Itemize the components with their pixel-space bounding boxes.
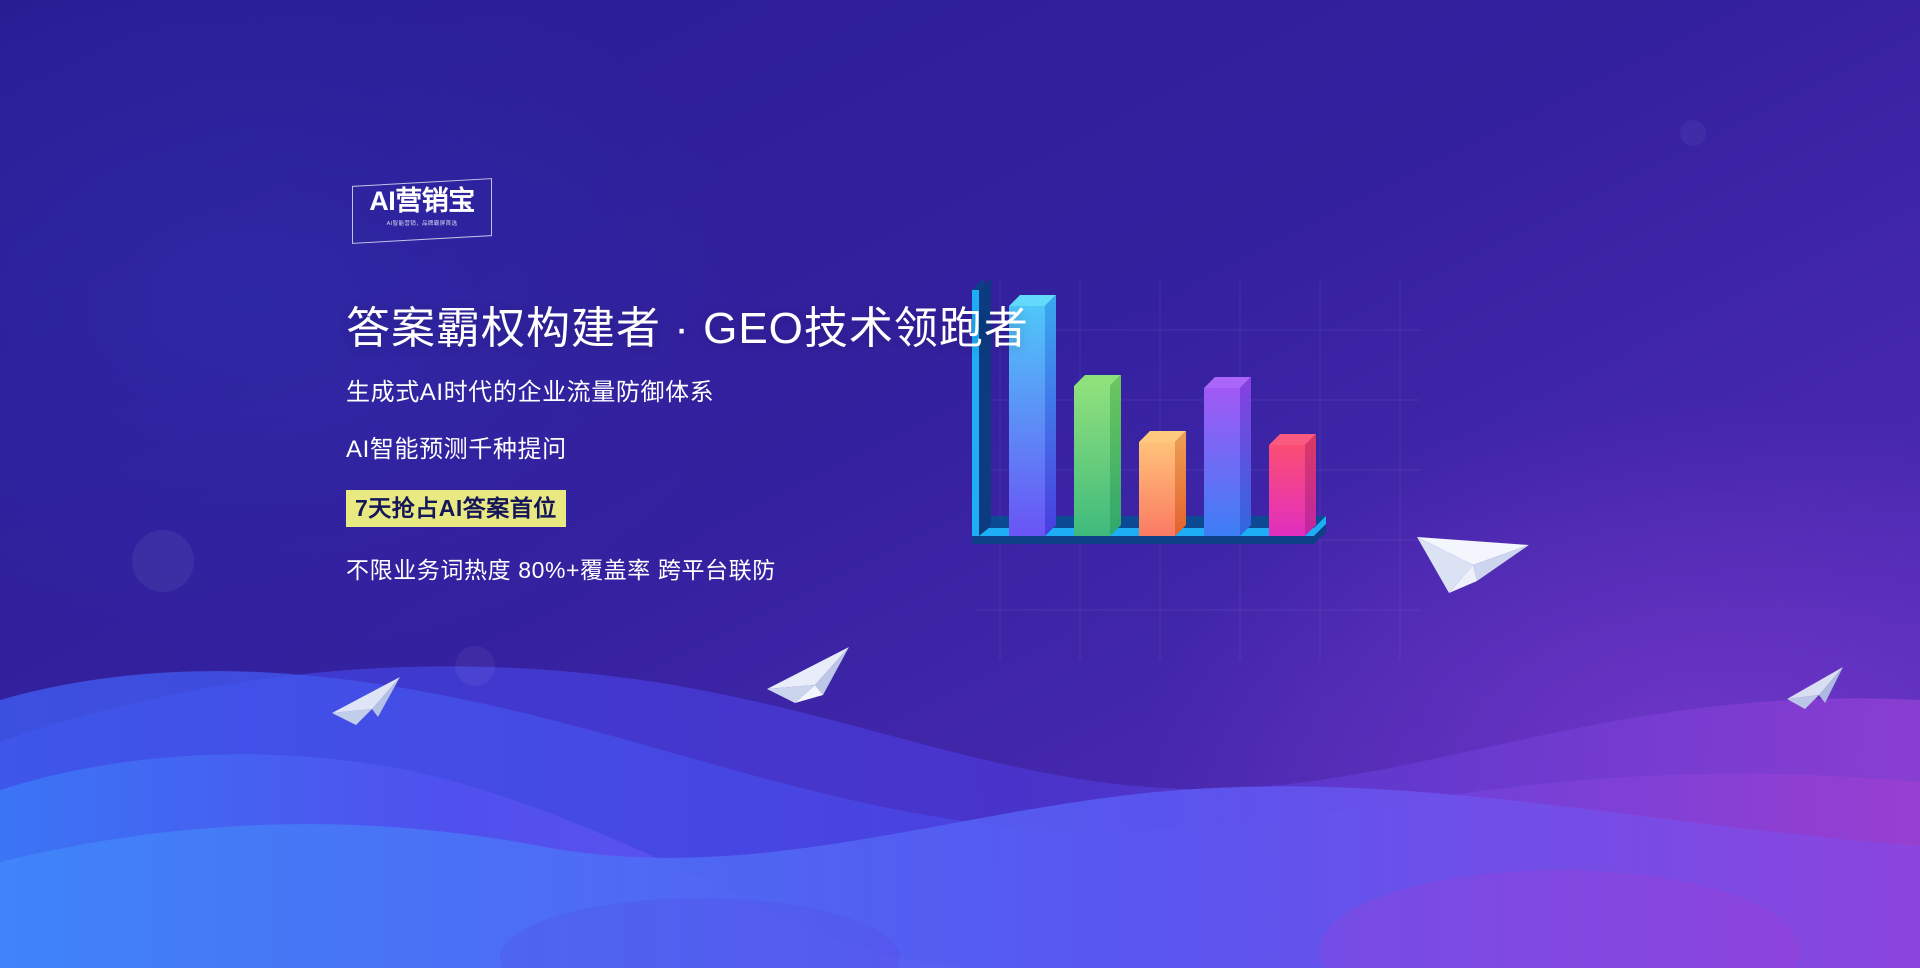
subtitle-line-3: 不限业务词热度 80%+覆盖率 跨平台联防 — [346, 555, 1046, 585]
subtitle-line-2: AI智能预测千种提问 — [346, 435, 1046, 465]
highlight-badge: 7天抢占AI答案首位 — [346, 490, 566, 527]
paper-plane-icon — [765, 645, 853, 707]
decorative-circle — [1680, 120, 1706, 146]
subtitle-line-1: 生成式AI时代的企业流量防御体系 — [346, 378, 1046, 408]
decorative-circle — [455, 646, 495, 686]
chart-bar — [1269, 434, 1316, 536]
paper-plane-icon — [330, 675, 404, 727]
page-title: 答案霸权构建者 · GEO技术领跑者 — [346, 300, 1046, 358]
hero-banner: AI营销宝 AI智能营销，品牌霸屏首选 — [0, 0, 1920, 968]
chart-bar — [1074, 375, 1121, 536]
hero-copy: 答案霸权构建者 · GEO技术领跑者 生成式AI时代的企业流量防御体系 AI智能… — [346, 300, 1046, 585]
chart-bar — [1139, 431, 1186, 536]
paper-plane-icon — [1785, 665, 1847, 711]
logo-tagline: AI智能营销，品牌霸屏首选 — [358, 218, 487, 226]
brand-logo[interactable]: AI营销宝 AI智能营销，品牌霸屏首选 — [352, 182, 492, 240]
chart-bar — [1204, 377, 1251, 536]
decorative-circle — [132, 530, 194, 592]
logo-wordmark: AI营销宝 — [360, 186, 484, 216]
paper-plane-icon — [1415, 515, 1533, 597]
highlight-row: 7天抢占AI答案首位 — [346, 490, 1046, 527]
